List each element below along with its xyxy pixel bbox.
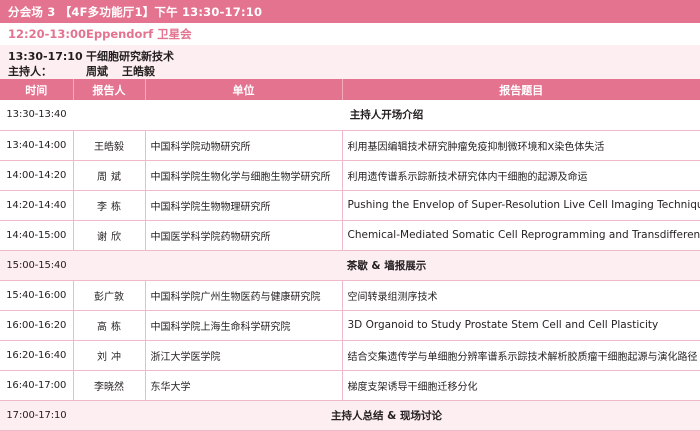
agenda-page: 分会场 3 【4F多功能厅1】下午 13:30-17:10 12:20-13:0… <box>0 0 700 416</box>
cell-span-note: 主持人总结 & 现场讨论 <box>73 400 700 430</box>
cell-time: 16:00-16:20 <box>0 310 73 340</box>
cell-time: 14:00-14:20 <box>0 160 73 190</box>
table-header-row: 时间 报告人 单位 报告题目 <box>0 79 700 100</box>
cell-speaker: 谢欣 <box>73 220 145 250</box>
agenda-table-body: 13:30-13:40主持人开场介绍13:40-14:00王皓毅中国科学院动物研… <box>0 100 700 430</box>
session-time: 13:30-17:10 <box>8 50 86 63</box>
session-meta-block: 13:30-17:10 干细胞研究新技术 主持人： 周斌王皓毅 <box>0 45 700 79</box>
chair-label: 主持人： <box>8 63 86 79</box>
cell-time: 14:20-14:40 <box>0 190 73 220</box>
cell-time: 14:40-15:00 <box>0 220 73 250</box>
table-row: 15:00-15:40茶歇 & 墙报展示 <box>0 250 700 280</box>
cell-time: 13:30-13:40 <box>0 100 73 130</box>
session-topic-row: 13:30-17:10 干细胞研究新技术 <box>8 48 700 63</box>
cell-speaker: 王皓毅 <box>73 130 145 160</box>
cell-organization: 中国科学院动物研究所 <box>145 130 342 160</box>
chair-name-2: 王皓毅 <box>122 65 155 78</box>
cell-organization: 中国科学院生物物理研究所 <box>145 190 342 220</box>
table-row: 15:40-16:00彭广敦中国科学院广州生物医药与健康研究院空间转录组测序技术 <box>0 280 700 310</box>
table-row: 14:00-14:20周斌中国科学院生物化学与细胞生物学研究所利用遗传谱系示踪新… <box>0 160 700 190</box>
cell-talk-title: 利用遗传谱系示踪新技术研究体内干细胞的起源及命运 <box>342 160 700 190</box>
cell-organization: 中国科学院生物化学与细胞生物学研究所 <box>145 160 342 190</box>
chair-name-1: 周斌 <box>86 65 108 78</box>
satellite-meeting-row: 12:20-13:00 Eppendorf 卫星会 <box>0 23 700 45</box>
cell-speaker: 彭广敦 <box>73 280 145 310</box>
cell-time: 17:00-17:10 <box>0 400 73 430</box>
cell-time: 15:00-15:40 <box>0 250 73 280</box>
column-header-title: 报告题目 <box>342 79 700 100</box>
cell-time: 15:40-16:00 <box>0 280 73 310</box>
chair-names: 周斌王皓毅 <box>86 63 155 79</box>
cell-talk-title: Chemical-Mediated Somatic Cell Reprogram… <box>342 220 700 250</box>
cell-talk-title: 梯度支架诱导干细胞迁移分化 <box>342 370 700 400</box>
session-topic: 干细胞研究新技术 <box>86 48 174 64</box>
cell-speaker: 高栋 <box>73 310 145 340</box>
session-chair-row: 主持人： 周斌王皓毅 <box>8 63 700 78</box>
cell-organization: 浙江大学医学院 <box>145 340 342 370</box>
cell-organization: 中国科学院广州生物医药与健康研究院 <box>145 280 342 310</box>
cell-time: 16:20-16:40 <box>0 340 73 370</box>
cell-speaker: 刘冲 <box>73 340 145 370</box>
table-row: 16:40-17:00李晓然东华大学梯度支架诱导干细胞迁移分化 <box>0 370 700 400</box>
cell-talk-title: 3D Organoid to Study Prostate Stem Cell … <box>342 310 700 340</box>
cell-organization: 东华大学 <box>145 370 342 400</box>
session-banner: 分会场 3 【4F多功能厅1】下午 13:30-17:10 <box>0 0 700 23</box>
cell-talk-title: 结合交集遗传学与单细胞分辨率谱系示踪技术解析胶质瘤干细胞起源与演化路径 <box>342 340 700 370</box>
cell-span-note: 茶歇 & 墙报展示 <box>73 250 700 280</box>
agenda-table: 时间 报告人 单位 报告题目 13:30-13:40主持人开场介绍13:40-1… <box>0 79 700 431</box>
column-header-org: 单位 <box>145 79 342 100</box>
cell-talk-title: Pushing the Envelop of Super-Resolution … <box>342 190 700 220</box>
cell-speaker: 李栋 <box>73 190 145 220</box>
column-header-time: 时间 <box>0 79 73 100</box>
table-row: 16:20-16:40刘冲浙江大学医学院结合交集遗传学与单细胞分辨率谱系示踪技术… <box>0 340 700 370</box>
cell-organization: 中国医学科学院药物研究所 <box>145 220 342 250</box>
table-row: 14:20-14:40李栋中国科学院生物物理研究所Pushing the Env… <box>0 190 700 220</box>
column-header-speaker: 报告人 <box>73 79 145 100</box>
banner-title: 分会场 3 【4F多功能厅1】下午 13:30-17:10 <box>8 4 262 20</box>
satellite-name: Eppendorf 卫星会 <box>86 26 192 42</box>
cell-time: 13:40-14:00 <box>0 130 73 160</box>
table-row: 13:30-13:40主持人开场介绍 <box>0 100 700 130</box>
satellite-time: 12:20-13:00 <box>8 27 86 41</box>
table-row: 14:40-15:00谢欣中国医学科学院药物研究所Chemical-Mediat… <box>0 220 700 250</box>
cell-time: 16:40-17:00 <box>0 370 73 400</box>
cell-organization: 中国科学院上海生命科学研究院 <box>145 310 342 340</box>
table-row: 16:00-16:20高栋中国科学院上海生命科学研究院3D Organoid t… <box>0 310 700 340</box>
cell-speaker: 李晓然 <box>73 370 145 400</box>
table-row: 17:00-17:10主持人总结 & 现场讨论 <box>0 400 700 430</box>
cell-speaker: 周斌 <box>73 160 145 190</box>
cell-talk-title: 空间转录组测序技术 <box>342 280 700 310</box>
cell-talk-title: 利用基因编辑技术研究肿瘤免疫抑制微环境和X染色体失活 <box>342 130 700 160</box>
cell-span-note: 主持人开场介绍 <box>73 100 700 130</box>
table-row: 13:40-14:00王皓毅中国科学院动物研究所利用基因编辑技术研究肿瘤免疫抑制… <box>0 130 700 160</box>
